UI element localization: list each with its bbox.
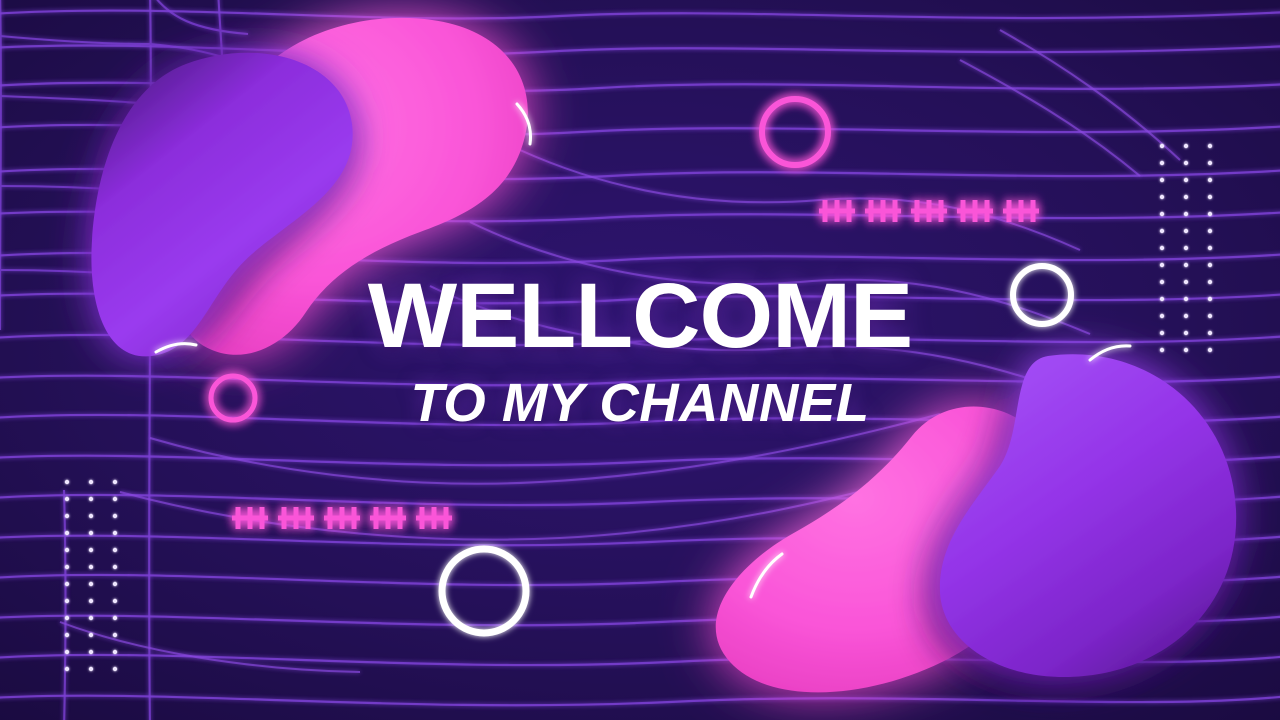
grid-dot	[1208, 348, 1212, 352]
grid-dot	[1208, 144, 1212, 148]
grid-dot	[1184, 229, 1188, 233]
grid-dot	[89, 480, 93, 484]
grid-dot	[89, 514, 93, 518]
grid-dot	[89, 565, 93, 569]
grid-dot	[1208, 195, 1212, 199]
ring-pink-left	[211, 376, 255, 420]
grid-dot	[65, 616, 69, 620]
grid-dot	[1208, 263, 1212, 267]
grid-dot	[1208, 212, 1212, 216]
grid-dot	[1208, 161, 1212, 165]
arc-accent-right	[1090, 346, 1130, 360]
grid-dot	[65, 531, 69, 535]
grid-dot	[89, 667, 93, 671]
grid-dot	[113, 667, 117, 671]
grid-dot	[1160, 297, 1164, 301]
grid-dot	[1160, 212, 1164, 216]
tally-marks-bottom-left	[232, 507, 452, 529]
grid-dot	[113, 548, 117, 552]
grid-dot	[89, 650, 93, 654]
grid-dot	[1184, 212, 1188, 216]
grid-dot	[1160, 263, 1164, 267]
grid-dot	[113, 582, 117, 586]
grid-dot	[65, 480, 69, 484]
grid-dot	[65, 548, 69, 552]
grid-dot	[65, 667, 69, 671]
grid-dot	[113, 531, 117, 535]
grid-dot	[1160, 195, 1164, 199]
tally-marks-top-right	[819, 200, 1039, 222]
ring-white-right	[1013, 266, 1071, 324]
grid-dot	[113, 565, 117, 569]
grid-dot	[1160, 348, 1164, 352]
arc-accents	[156, 104, 1130, 597]
arc-accent-left	[156, 344, 196, 352]
grid-dot	[89, 616, 93, 620]
grid-dot	[1208, 314, 1212, 318]
grid-dot	[1208, 178, 1212, 182]
grid-dot	[1160, 314, 1164, 318]
dot-grid-right	[1160, 144, 1212, 352]
grid-dot	[1184, 161, 1188, 165]
arc-accent-bottom	[751, 554, 782, 597]
grid-dot	[113, 514, 117, 518]
grid-dot	[1184, 178, 1188, 182]
decorative-accents	[0, 0, 1280, 720]
banner-canvas: WELLCOME TO MY CHANNEL	[0, 0, 1280, 720]
grid-dot	[89, 599, 93, 603]
dot-grid-bottom-left	[65, 480, 117, 671]
grid-dot	[1160, 144, 1164, 148]
grid-dot	[89, 633, 93, 637]
grid-dot	[65, 650, 69, 654]
grid-dot	[89, 497, 93, 501]
grid-dot	[113, 599, 117, 603]
grid-dot	[1160, 280, 1164, 284]
grid-dot	[1160, 246, 1164, 250]
grid-dot	[89, 582, 93, 586]
grid-dot	[1184, 297, 1188, 301]
grid-dot	[1208, 280, 1212, 284]
grid-dot	[65, 497, 69, 501]
grid-dot	[89, 548, 93, 552]
ring-pink-top-right	[762, 99, 828, 165]
grid-dot	[65, 633, 69, 637]
grid-dot	[113, 650, 117, 654]
grid-dot	[65, 599, 69, 603]
grid-dot	[1208, 331, 1212, 335]
grid-dot	[1184, 263, 1188, 267]
ring-white-bottom	[442, 549, 526, 633]
grid-dot	[65, 514, 69, 518]
grid-dot	[113, 480, 117, 484]
grid-dot	[1184, 314, 1188, 318]
grid-dot	[89, 531, 93, 535]
grid-dot	[1184, 280, 1188, 284]
grid-dot	[1208, 246, 1212, 250]
grid-dot	[1160, 161, 1164, 165]
grid-dot	[1208, 229, 1212, 233]
grid-dot	[113, 633, 117, 637]
grid-dot	[113, 497, 117, 501]
grid-dot	[1208, 297, 1212, 301]
grid-dot	[65, 582, 69, 586]
grid-dot	[1160, 229, 1164, 233]
grid-dot	[1160, 178, 1164, 182]
grid-dot	[1184, 246, 1188, 250]
grid-dot	[1184, 348, 1188, 352]
grid-dot	[1184, 331, 1188, 335]
arc-accent-top	[517, 104, 530, 144]
grid-dot	[1184, 195, 1188, 199]
grid-dot	[65, 565, 69, 569]
grid-dot	[1160, 331, 1164, 335]
grid-dot	[113, 616, 117, 620]
grid-dot	[1184, 144, 1188, 148]
